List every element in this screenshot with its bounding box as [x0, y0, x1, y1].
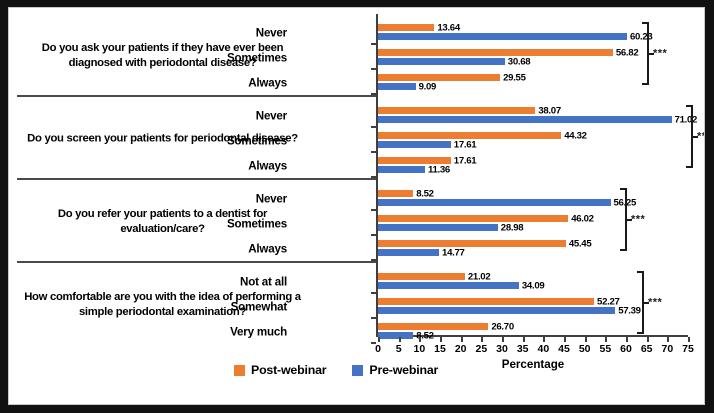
bar-value-label: 34.09 [522, 280, 545, 291]
x-tick [523, 337, 525, 342]
category-row: Somewhat52.2757.39 [9, 294, 704, 319]
category-row: Never38.0771.02 [9, 103, 704, 128]
bar-fill [378, 83, 416, 90]
x-tick-label: 15 [434, 343, 446, 355]
x-tick [543, 337, 545, 342]
x-tick-label: 0 [375, 343, 381, 355]
chart-canvas: Do you ask your patients if they have ev… [8, 7, 705, 405]
x-tick [585, 337, 587, 342]
bar-value-label: 9.09 [419, 81, 436, 92]
bar-post-webinar[interactable]: 21.02 [378, 273, 465, 280]
category-row: Sometimes46.0228.98 [9, 211, 704, 236]
bar-value-label: 11.36 [428, 164, 450, 175]
bar-fill [378, 282, 519, 289]
bar-post-webinar[interactable]: 13.64 [378, 24, 434, 31]
bar-value-label: 13.64 [437, 22, 460, 33]
category-row: Never13.6460.23 [9, 20, 704, 45]
bar-value-label: 17.61 [454, 155, 477, 166]
bar-post-webinar[interactable]: 38.07 [378, 107, 535, 114]
x-tick [564, 337, 566, 342]
bar-fill [378, 49, 613, 56]
bar-value-label: 28.98 [501, 222, 524, 233]
category-row: Always17.6111.36 [9, 153, 704, 178]
bar-pair: 21.0234.09 [378, 269, 704, 294]
category-label: Very much [230, 325, 287, 338]
category-label: Always [248, 76, 287, 89]
category-label: Never [256, 26, 287, 39]
question-group: Do you ask your patients if they have ev… [9, 14, 704, 97]
bar-post-webinar[interactable]: 29.55 [378, 74, 500, 81]
bar-value-label: 71.02 [675, 114, 698, 125]
bar-pre-webinar[interactable]: 30.68 [378, 58, 505, 65]
bar-value-label: 14.77 [442, 247, 465, 258]
bar-pre-webinar[interactable]: 71.02 [378, 116, 672, 123]
bar-pre-webinar[interactable]: 14.77 [378, 249, 439, 256]
x-tick [440, 337, 442, 342]
x-tick-label: 25 [475, 343, 487, 355]
bar-pre-webinar[interactable]: 28.98 [378, 224, 498, 231]
x-tick [461, 337, 463, 342]
x-tick [419, 337, 421, 342]
legend-item[interactable]: Post-webinar [234, 363, 326, 377]
bar-fill [378, 307, 615, 314]
bar-fill [378, 33, 627, 40]
x-tick-label: 30 [496, 343, 508, 355]
category-label: Always [248, 159, 287, 172]
category-label: Sometimes [227, 51, 287, 64]
x-tick-label: 20 [455, 343, 467, 355]
category-row: Always45.4514.77 [9, 236, 704, 261]
x-tick [647, 337, 649, 342]
question-group: Do you refer your patients to a dentist … [9, 180, 704, 263]
question-group: How comfortable are you with the idea of… [9, 263, 704, 346]
bar-value-label: 38.07 [538, 105, 561, 116]
question-group: Do you screen your patients for periodon… [9, 97, 704, 180]
x-tick-label: 35 [517, 343, 529, 355]
bar-value-label: 17.61 [454, 139, 477, 150]
category-row: Always29.559.09 [9, 70, 704, 95]
legend-label: Pre-webinar [369, 363, 438, 377]
bar-fill [378, 74, 500, 81]
bar-pair: 38.0771.02 [378, 103, 704, 128]
bar-value-label: 60.23 [630, 31, 653, 42]
bar-pair: 52.2757.39 [378, 294, 704, 319]
x-tick [688, 337, 690, 342]
category-row: Sometimes44.3217.61 [9, 128, 704, 153]
category-label: Never [256, 109, 287, 122]
x-tick [667, 337, 669, 342]
bar-pre-webinar[interactable]: 56.25 [378, 199, 611, 206]
bar-pair: 46.0228.98 [378, 211, 704, 236]
bar-value-label: 52.27 [597, 296, 620, 307]
bar-fill [378, 224, 498, 231]
category-label: Never [256, 192, 287, 205]
x-tick [605, 337, 607, 342]
bar-fill [378, 58, 505, 65]
chart-legend: Post-webinarPre-webinar [9, 363, 704, 377]
figure-frame: Do you ask your patients if they have ev… [0, 0, 714, 413]
bar-value-label: 56.82 [616, 47, 639, 58]
x-tick-label: 10 [413, 343, 425, 355]
bar-pre-webinar[interactable]: 11.36 [378, 166, 425, 173]
bar-post-webinar[interactable]: 8.52 [378, 190, 413, 197]
bar-fill [378, 166, 425, 173]
bar-pair: 17.6111.36 [378, 153, 704, 178]
x-tick-label: 45 [558, 343, 570, 355]
bar-pre-webinar[interactable]: 17.61 [378, 141, 451, 148]
x-tick [502, 337, 504, 342]
category-label: Sometimes [227, 134, 287, 147]
category-row: Never8.5256.25 [9, 186, 704, 211]
bar-value-label: 8.52 [416, 188, 433, 199]
bar-fill [378, 240, 566, 247]
bar-fill [378, 107, 535, 114]
bar-post-webinar[interactable]: 46.02 [378, 215, 568, 222]
bar-pair: 29.559.09 [378, 70, 704, 95]
bar-value-label: 44.32 [564, 130, 587, 141]
bar-pre-webinar[interactable]: 34.09 [378, 282, 519, 289]
bar-fill [378, 215, 568, 222]
x-tick [399, 337, 401, 342]
x-tick-label: 55 [599, 343, 611, 355]
legend-swatch-icon [234, 365, 245, 376]
group-separator [17, 261, 376, 263]
x-tick [378, 337, 380, 342]
bar-post-webinar[interactable]: 56.82 [378, 49, 613, 56]
bar-value-label: 56.25 [614, 197, 637, 208]
x-tick [481, 337, 483, 342]
bar-pre-webinar[interactable]: 60.23 [378, 33, 627, 40]
bar-fill [378, 141, 451, 148]
bar-pair: 45.4514.77 [378, 236, 704, 261]
x-tick-label: 40 [537, 343, 549, 355]
category-row: Sometimes56.8230.68 [9, 45, 704, 70]
bar-fill [378, 24, 434, 31]
bar-post-webinar[interactable]: 45.45 [378, 240, 566, 247]
x-tick-label: 65 [641, 343, 653, 355]
x-axis-tick-labels: 051015202530354045505560657075 [378, 343, 688, 359]
x-tick-label: 70 [661, 343, 673, 355]
category-label: Somewhat [231, 300, 287, 313]
x-tick-label: 60 [620, 343, 632, 355]
bar-fill [378, 298, 594, 305]
category-label: Always [248, 242, 287, 255]
bar-value-label: 21.02 [468, 271, 491, 282]
group-separator [17, 178, 376, 180]
x-tick-label: 5 [396, 343, 402, 355]
bar-pre-webinar[interactable]: 9.09 [378, 83, 416, 90]
bar-value-label: 26.70 [491, 321, 514, 332]
bar-fill [378, 249, 439, 256]
x-tick-label: 50 [579, 343, 591, 355]
legend-swatch-icon [352, 365, 363, 376]
bar-value-label: 46.02 [571, 213, 594, 224]
bar-pair: 13.6460.23 [378, 20, 704, 45]
bar-fill [378, 190, 413, 197]
x-tick-label: 75 [682, 343, 694, 355]
bar-pair: 8.5256.25 [378, 186, 704, 211]
bar-fill [378, 199, 611, 206]
bar-value-label: 30.68 [508, 56, 531, 67]
bar-value-label: 29.55 [503, 72, 526, 83]
category-label: Sometimes [227, 217, 287, 230]
bar-post-webinar[interactable]: 52.27 [378, 298, 594, 305]
legend-item[interactable]: Pre-webinar [352, 363, 438, 377]
legend-label: Post-webinar [251, 363, 326, 377]
bar-fill [378, 116, 672, 123]
bar-pair: 44.3217.61 [378, 128, 704, 153]
x-tick [626, 337, 628, 342]
bar-pair: 56.8230.68 [378, 45, 704, 70]
category-label: Not at all [240, 275, 287, 288]
bar-value-label: 45.45 [569, 238, 592, 249]
bar-pre-webinar[interactable]: 57.39 [378, 307, 615, 314]
group-separator [17, 95, 376, 97]
bar-value-label: 57.39 [618, 305, 641, 316]
category-row: Not at all21.0234.09 [9, 269, 704, 294]
bar-fill [378, 273, 465, 280]
